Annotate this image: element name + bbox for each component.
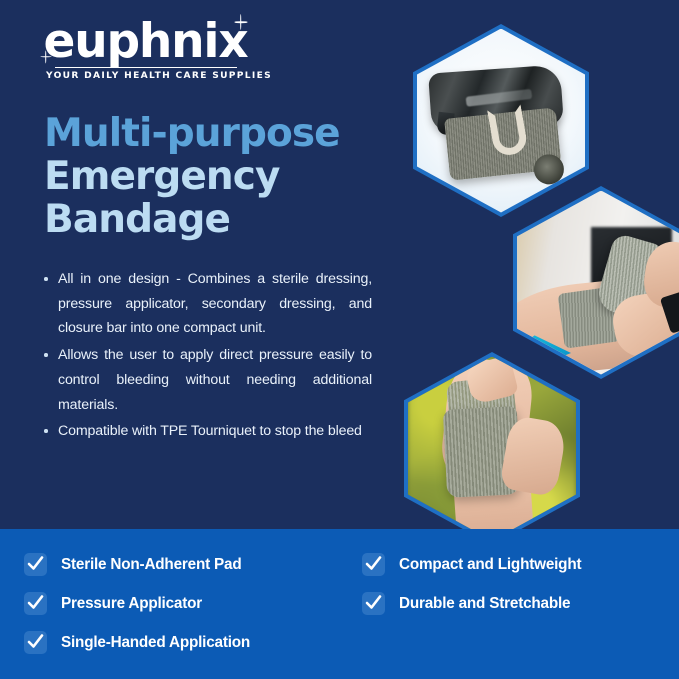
list-item: All in one design - Combines a sterile d… bbox=[42, 267, 372, 341]
check-icon bbox=[24, 631, 47, 654]
list-item: Durable and Stretchable bbox=[362, 584, 662, 623]
list-item: Compatible with TPE Tourniquet to stop t… bbox=[42, 419, 372, 444]
check-icon bbox=[362, 592, 385, 615]
arm-scene bbox=[517, 191, 679, 375]
knee-application-photo bbox=[408, 357, 576, 541]
pouch-print-graphic bbox=[466, 88, 533, 106]
brand-logo: euphnix YOUR DAILY HEALTH CARE SUPPLIES bbox=[38, 18, 253, 81]
feature-label: Pressure Applicator bbox=[61, 595, 202, 613]
feature-label: Sterile Non-Adherent Pad bbox=[61, 556, 242, 574]
title-line-3: Bandage bbox=[44, 198, 374, 241]
list-item: Sterile Non-Adherent Pad bbox=[24, 545, 354, 584]
check-icon bbox=[362, 553, 385, 576]
product-photo-backdrop bbox=[417, 29, 585, 213]
roll-end-graphic bbox=[531, 151, 567, 187]
check-icon bbox=[24, 553, 47, 576]
page-title: Multi-purpose Emergency Bandage bbox=[44, 112, 374, 241]
title-line-1: Multi-purpose bbox=[44, 112, 374, 155]
brand-name: euphnix bbox=[38, 18, 253, 66]
arm-application-photo bbox=[517, 191, 679, 375]
list-item: Compact and Lightweight bbox=[362, 545, 662, 584]
feature-label: Durable and Stretchable bbox=[399, 595, 570, 613]
title-line-2: Emergency bbox=[44, 155, 374, 198]
product-image-hexagon bbox=[413, 24, 589, 217]
product-photo bbox=[417, 29, 585, 213]
knee-application-hexagon bbox=[404, 352, 580, 545]
feature-bar: Sterile Non-Adherent Pad Pressure Applic… bbox=[0, 529, 679, 679]
list-item: Allows the user to apply direct pressure… bbox=[42, 343, 372, 417]
product-infographic: euphnix YOUR DAILY HEALTH CARE SUPPLIES … bbox=[0, 0, 679, 679]
check-icon bbox=[24, 592, 47, 615]
feature-label: Single-Handed Application bbox=[61, 634, 250, 652]
feature-column-right: Compact and Lightweight Durable and Stre… bbox=[362, 545, 662, 623]
feature-bullet-list: All in one design - Combines a sterile d… bbox=[42, 267, 372, 444]
list-item: Single-Handed Application bbox=[24, 623, 354, 662]
feature-label: Compact and Lightweight bbox=[399, 556, 581, 574]
list-item: Pressure Applicator bbox=[24, 584, 354, 623]
arm-application-hexagon bbox=[513, 186, 679, 379]
knee-scene bbox=[408, 357, 576, 541]
brand-tagline: YOUR DAILY HEALTH CARE SUPPLIES bbox=[46, 71, 253, 81]
feature-column-left: Sterile Non-Adherent Pad Pressure Applic… bbox=[24, 545, 354, 662]
